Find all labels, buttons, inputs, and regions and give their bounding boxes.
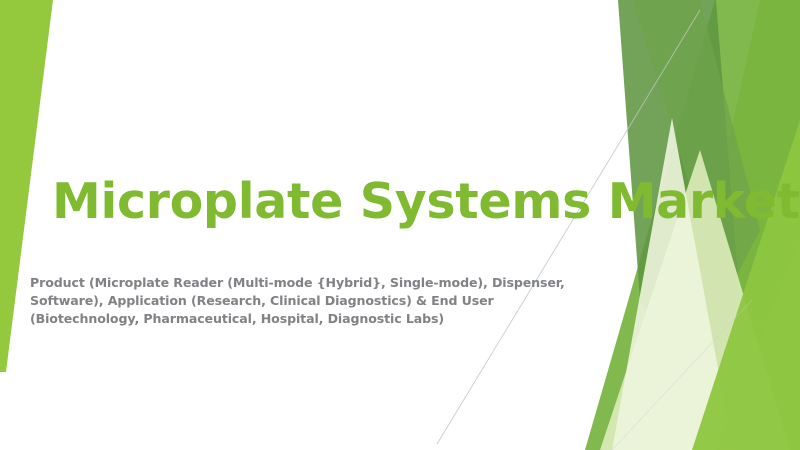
- right-very-pale-sliver: [612, 118, 733, 450]
- right-muted-green-wedge: [633, 0, 760, 300]
- page-title: Microplate Systems Market: [52, 176, 652, 227]
- hairline-diagonal-secondary: [612, 300, 752, 450]
- presentation-slide: Microplate Systems Market Product (Micro…: [0, 0, 800, 450]
- subtitle-placeholder: Product (Microplate Reader (Multi-mode {…: [30, 274, 596, 328]
- right-foreground-green: [692, 120, 800, 450]
- slide-subtitle: Product (Microplate Reader (Multi-mode {…: [30, 274, 596, 328]
- title-placeholder: Microplate Systems Market: [52, 176, 652, 227]
- right-soft-highlight: [716, 240, 800, 450]
